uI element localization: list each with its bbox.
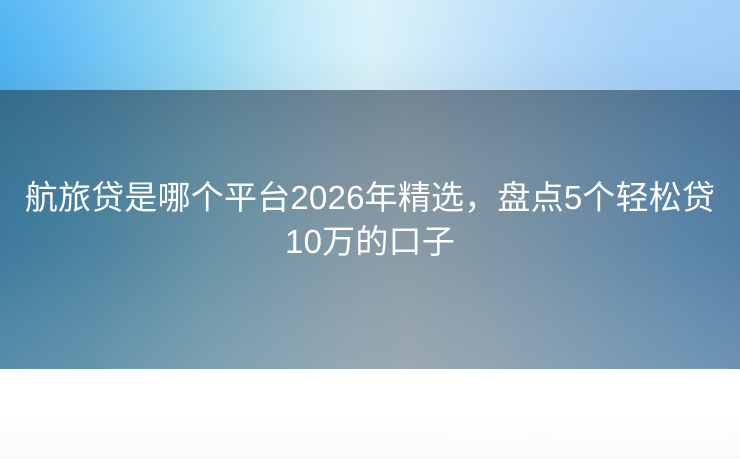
headline-text: 航旅贷是哪个平台2026年精选，盘点5个轻松贷10万的口子 (0, 176, 740, 264)
cover-image-canvas: 航旅贷是哪个平台2026年精选，盘点5个轻松贷10万的口子 光头条 - www.… (0, 0, 740, 459)
bottom-sky-band-sheen (0, 369, 740, 459)
site-watermark: 光头条 - www.stlhty.net (449, 415, 726, 445)
top-sky-band-sheen (0, 0, 740, 90)
